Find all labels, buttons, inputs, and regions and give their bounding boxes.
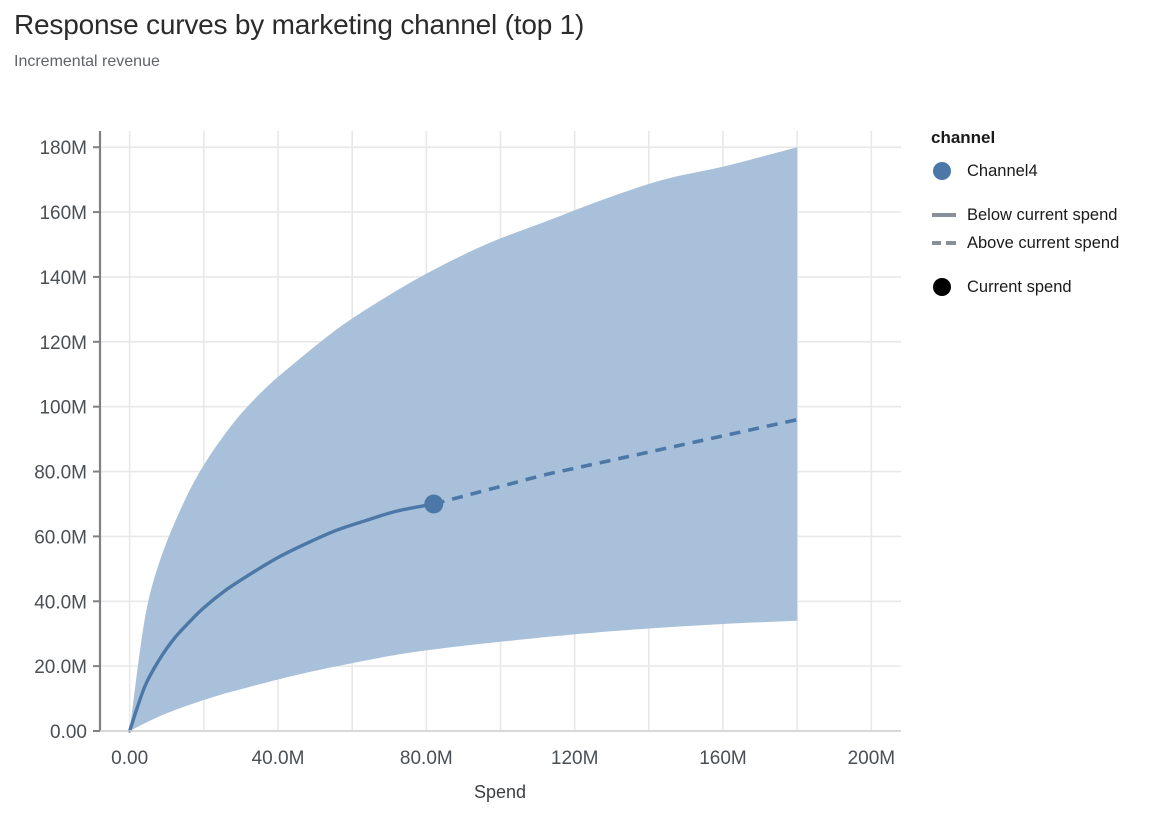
response-curve-chart: Response curves by marketing channel (to… — [0, 0, 1164, 814]
legend-item-above-current-spend[interactable]: Above current spend — [931, 230, 1161, 256]
legend-item-label: Above current spend — [967, 233, 1119, 253]
legend-spacer — [931, 258, 1161, 274]
solid-line-icon — [931, 213, 967, 217]
y-axis-tick-label: 40.0M — [34, 592, 87, 613]
y-axis-tick-label: 60.0M — [34, 527, 87, 548]
legend-item-current-spend[interactable]: Current spend — [931, 274, 1161, 300]
legend-spacer — [931, 186, 1161, 202]
x-axis-ticks: 0.0040.0M80.0M120M160M200M — [111, 748, 895, 769]
y-axis-tick-label: 180M — [39, 138, 87, 159]
legend-item-label: Below current spend — [967, 205, 1117, 225]
y-axis-tick-label: 120M — [39, 333, 87, 354]
legend-item-label: Channel4 — [967, 161, 1038, 181]
x-axis-tick-label: 160M — [699, 748, 747, 769]
y-axis-tick-label: 0.00 — [50, 722, 87, 743]
y-axis-tick-label: 140M — [39, 268, 87, 289]
plot-svg: 0.0020.0M40.0M60.0M80.0M100M120M140M160M… — [0, 0, 1164, 814]
x-axis-tick-label: 0.00 — [111, 748, 148, 769]
x-axis-tick-label: 40.0M — [252, 748, 305, 769]
legend-item-label: Current spend — [967, 277, 1072, 297]
x-axis-tick-label: 80.0M — [400, 748, 453, 769]
x-axis-tick-label: 200M — [848, 748, 896, 769]
y-axis-tick-label: 100M — [39, 398, 87, 419]
legend-item-below-current-spend[interactable]: Below current spend — [931, 202, 1161, 228]
y-axis-tick-label: 80.0M — [34, 463, 87, 484]
x-axis-tick-label: 120M — [551, 748, 599, 769]
x-axis-title: Spend — [474, 782, 526, 802]
current-spend-marker[interactable] — [424, 494, 443, 513]
legend-title: channel — [931, 128, 1161, 148]
y-axis-tick-label: 20.0M — [34, 657, 87, 678]
y-axis-ticks: 0.0020.0M40.0M60.0M80.0M100M120M140M160M… — [34, 138, 100, 743]
chart-legend: channel Channel4 Below current spend Abo… — [931, 128, 1161, 302]
current-spend-dot-icon — [931, 278, 967, 296]
y-axis-tick-label: 160M — [39, 203, 87, 224]
legend-item-channel4[interactable]: Channel4 — [931, 158, 1161, 184]
series-dot-icon — [931, 162, 967, 180]
dashed-line-icon — [931, 241, 967, 245]
confidence-band — [130, 147, 798, 731]
